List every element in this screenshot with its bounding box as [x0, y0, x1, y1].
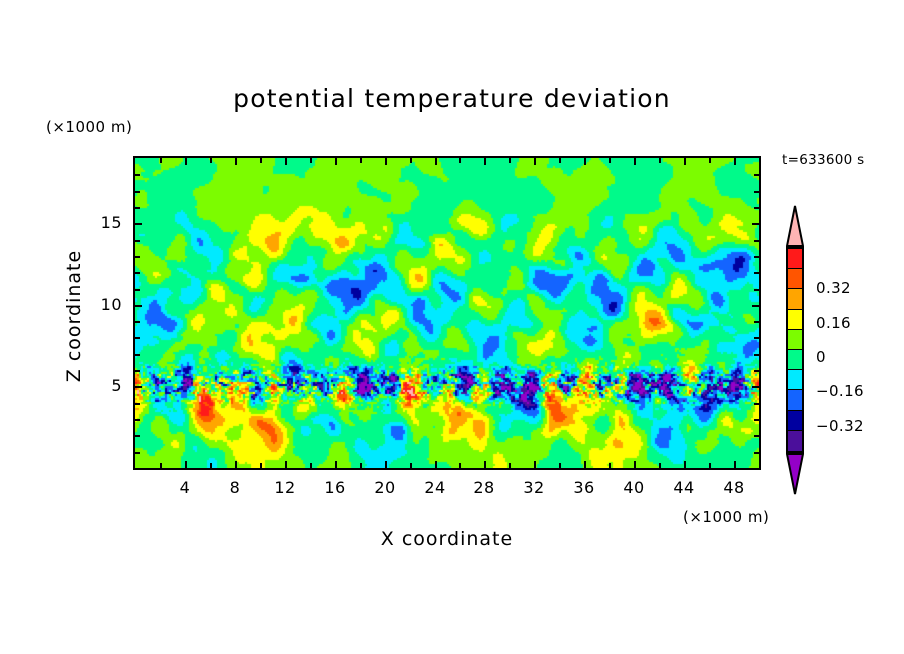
- y-axis-title: Z coordinate: [63, 216, 85, 416]
- x-tick-top: [509, 158, 511, 163]
- x-tick-label: 20: [365, 478, 405, 497]
- x-tick-bottom: [435, 461, 437, 468]
- colorbar-band: [788, 431, 802, 451]
- y-tick-right: [754, 289, 759, 291]
- x-tick-label: 28: [464, 478, 504, 497]
- colorbar-tick-label: 0: [816, 348, 826, 366]
- colorbar-tick-label: −0.16: [816, 382, 864, 400]
- x-tick-top: [659, 158, 661, 163]
- x-tick-bottom: [734, 461, 736, 468]
- y-tick-right: [754, 419, 759, 421]
- y-tick-left: [135, 435, 140, 437]
- y-tick-right: [754, 452, 759, 454]
- x-tick-bottom: [634, 461, 636, 468]
- x-tick-label: 24: [415, 478, 455, 497]
- y-tick-right: [752, 305, 759, 307]
- x-tick-bottom: [484, 461, 486, 468]
- x-tick-bottom: [459, 463, 461, 468]
- x-tick-bottom: [410, 463, 412, 468]
- x-tick-top: [235, 158, 237, 165]
- y-tick-left: [135, 174, 140, 176]
- x-tick-top: [360, 158, 362, 163]
- x-tick-label: 32: [514, 478, 554, 497]
- timestamp-annotation: t=633600 s: [782, 152, 864, 168]
- x-tick-bottom: [260, 463, 262, 468]
- colorbar-tick-label: 0.16: [816, 314, 851, 332]
- x-tick-label: 44: [664, 478, 704, 497]
- x-tick-bottom: [310, 463, 312, 468]
- y-tick-right: [754, 174, 759, 176]
- x-tick-top: [484, 158, 486, 165]
- x-tick-top: [534, 158, 536, 165]
- y-tick-right: [752, 386, 759, 388]
- x-tick-bottom: [360, 463, 362, 468]
- colorbar-band: [788, 411, 802, 431]
- x-tick-label: 48: [714, 478, 754, 497]
- x-tick-top: [584, 158, 586, 165]
- x-tick-bottom: [385, 461, 387, 468]
- y-tick-label: 15: [88, 213, 122, 232]
- y-tick-right: [754, 321, 759, 323]
- x-tick-top: [285, 158, 287, 165]
- y-tick-label: 10: [88, 295, 122, 314]
- colorbar-band: [788, 269, 802, 289]
- x-tick-bottom: [235, 461, 237, 468]
- colorbar-band: [788, 370, 802, 390]
- y-tick-left: [135, 419, 140, 421]
- x-tick-bottom: [709, 463, 711, 468]
- y-tick-left: [135, 452, 140, 454]
- y-tick-right: [754, 435, 759, 437]
- x-tick-bottom: [684, 461, 686, 468]
- colorbar-bottom-cap-icon: [786, 453, 804, 495]
- x-tick-bottom: [534, 461, 536, 468]
- colorbar[interactable]: [783, 205, 807, 495]
- y-tick-left: [135, 403, 140, 405]
- x-tick-label: 40: [614, 478, 654, 497]
- x-tick-label: 36: [564, 478, 604, 497]
- x-tick-top: [559, 158, 561, 163]
- y-tick-left: [135, 305, 142, 307]
- colorbar-bands: [786, 247, 804, 453]
- x-tick-bottom: [185, 461, 187, 468]
- x-tick-top: [410, 158, 412, 163]
- y-tick-right: [754, 370, 759, 372]
- x-tick-top: [210, 158, 212, 163]
- y-tick-left: [135, 354, 140, 356]
- x-tick-bottom: [160, 463, 162, 468]
- y-tick-left: [135, 321, 140, 323]
- x-tick-top: [260, 158, 262, 163]
- y-tick-right: [754, 354, 759, 356]
- x-tick-top: [160, 158, 162, 163]
- y-tick-right: [752, 223, 759, 225]
- x-axis-unit-label: (×1000 m): [683, 508, 769, 526]
- y-tick-left: [135, 289, 140, 291]
- x-tick-label: 12: [265, 478, 305, 497]
- colorbar-band: [788, 390, 802, 410]
- colorbar-band: [788, 310, 802, 330]
- y-tick-left: [135, 272, 140, 274]
- x-tick-top: [609, 158, 611, 163]
- y-tick-left: [135, 386, 142, 388]
- y-tick-label: 5: [88, 376, 122, 395]
- y-axis-unit-label: (×1000 m): [46, 118, 132, 136]
- x-tick-top: [459, 158, 461, 163]
- x-tick-bottom: [335, 461, 337, 468]
- y-tick-right: [754, 403, 759, 405]
- contour-plot-area[interactable]: [133, 156, 761, 470]
- x-tick-top: [634, 158, 636, 165]
- colorbar-band: [788, 350, 802, 370]
- x-tick-label: 16: [315, 478, 355, 497]
- x-tick-bottom: [659, 463, 661, 468]
- y-tick-left: [135, 337, 140, 339]
- y-tick-right: [754, 191, 759, 193]
- x-tick-top: [335, 158, 337, 165]
- y-tick-left: [135, 240, 140, 242]
- colorbar-tick-label: −0.32: [816, 417, 864, 435]
- y-tick-right: [754, 272, 759, 274]
- x-tick-top: [684, 158, 686, 165]
- y-tick-right: [754, 207, 759, 209]
- page-title: potential temperature deviation: [0, 84, 904, 113]
- x-tick-label: 4: [165, 478, 205, 497]
- x-tick-top: [709, 158, 711, 163]
- contour-field-canvas: [135, 158, 759, 468]
- x-tick-bottom: [609, 463, 611, 468]
- colorbar-tick-label: 0.32: [816, 279, 851, 297]
- y-tick-left: [135, 207, 140, 209]
- y-tick-right: [754, 240, 759, 242]
- x-tick-top: [435, 158, 437, 165]
- x-axis-title: X coordinate: [133, 528, 761, 550]
- x-tick-bottom: [285, 461, 287, 468]
- y-tick-right: [754, 337, 759, 339]
- y-tick-left: [135, 191, 140, 193]
- y-tick-right: [754, 256, 759, 258]
- y-tick-left: [135, 223, 142, 225]
- colorbar-band: [788, 249, 802, 269]
- x-tick-top: [385, 158, 387, 165]
- colorbar-band: [788, 330, 802, 350]
- y-tick-left: [135, 370, 140, 372]
- y-tick-left: [135, 256, 140, 258]
- x-tick-label: 8: [215, 478, 255, 497]
- x-tick-top: [310, 158, 312, 163]
- colorbar-band: [788, 289, 802, 309]
- x-tick-bottom: [584, 461, 586, 468]
- x-tick-top: [734, 158, 736, 165]
- colorbar-top-cap-icon: [786, 205, 804, 247]
- x-tick-top: [185, 158, 187, 165]
- x-tick-bottom: [509, 463, 511, 468]
- x-tick-bottom: [210, 463, 212, 468]
- x-tick-bottom: [559, 463, 561, 468]
